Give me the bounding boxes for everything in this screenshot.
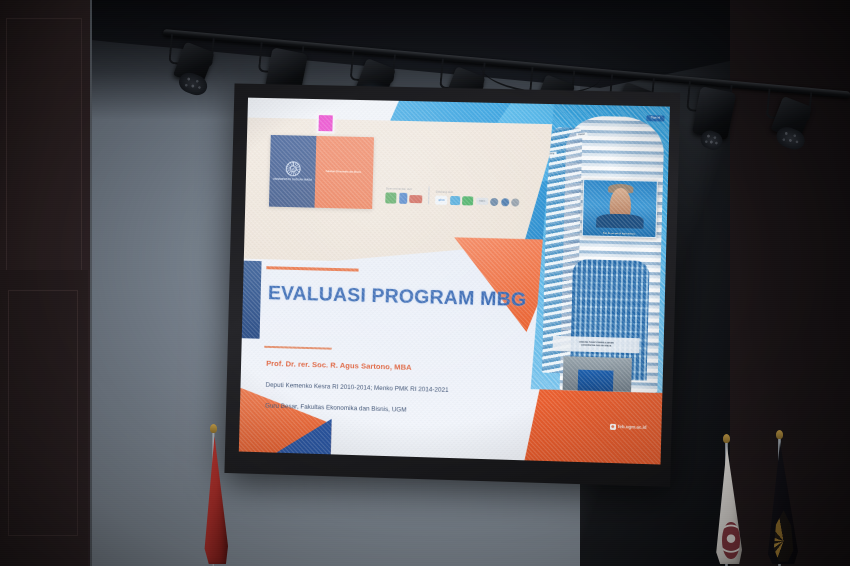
slide-website-text: feb.ugm.ac.id (618, 424, 647, 430)
partner-divider (428, 187, 429, 205)
flag-cloth-indonesia (202, 436, 228, 564)
flag-cloth-institution (766, 442, 798, 564)
building-entrance (562, 356, 631, 392)
ugm-seal-icon (285, 161, 300, 176)
partner-group-1-row (386, 193, 423, 205)
university-name: UNIVERSITAS GADJAH MADA (273, 178, 312, 182)
partner-logo-mdgs (410, 195, 423, 203)
globe-icon: ⊕ (610, 424, 616, 430)
partner-logo-indons: ndns (476, 198, 488, 205)
building-sign-line-2: UNIVERSITAS GADJAH MADA (581, 344, 611, 347)
feb-ugm-building-photo: GEDUNG PUSAT PEMBELAJARAN UNIVERSITAS GA… (531, 104, 670, 393)
ugm-logo: UNIVERSITAS GADJAH MADA (269, 135, 316, 207)
flag-finial-icon (776, 430, 783, 439)
university-emblem-icon (722, 522, 739, 560)
slide-website: ⊕ feb.ugm.ac.id (610, 424, 647, 431)
partner-logo-strip: Dipersembahkan oleh Didukung oleh gbsn (386, 161, 564, 208)
wall-panel-left-lower (0, 270, 88, 566)
portrait-shoulders (596, 214, 644, 229)
partner-group-2-heading: Didukung oleh (436, 191, 520, 196)
flag-cloth-university (714, 446, 742, 564)
partner-group-presented-by: Dipersembahkan oleh (386, 188, 423, 205)
slide-shape-blue-bar (242, 260, 262, 338)
conference-hall-scene: UNIVERSITAS GADJAH MADA Fakultas Ekonomi… (0, 0, 850, 566)
pink-accent-square (316, 113, 335, 133)
flag-indonesia (198, 430, 232, 566)
partner-logo-ugm (386, 193, 397, 204)
flag-finial-icon (210, 424, 217, 433)
partner-logo-odgs (462, 196, 473, 205)
ugm-feb-logo-lockup: UNIVERSITAS GADJAH MADA Fakultas Ekonomi… (269, 135, 373, 208)
flag-finial-icon (723, 434, 730, 443)
partner-logo-who (501, 198, 509, 206)
partner-group-1-heading: Dipersembahkan oleh (386, 188, 423, 192)
institution-emblem-icon (773, 510, 794, 561)
partner-group-supported-by: Didukung oleh gbsn ndns (435, 191, 519, 207)
projection-screen: UNIVERSITAS GADJAH MADA Fakultas Ekonomi… (239, 98, 670, 465)
tiga-id-badge: Tiga.id (646, 115, 664, 121)
presentation-slide: UNIVERSITAS GADJAH MADA Fakultas Ekonomi… (239, 98, 670, 465)
projection-screen-frame: UNIVERSITAS GADJAH MADA Fakultas Ekonomi… (224, 83, 680, 487)
entrance-door (577, 369, 613, 391)
building-signage: GEDUNG PUSAT PEMBELAJARAN UNIVERSITAS GA… (553, 336, 640, 354)
faculty-name: Fakultas Ekonomika dan Bisnis (326, 170, 362, 174)
feb-logo: Fakultas Ekonomika dan Bisnis (314, 136, 373, 208)
speaker-portrait-banner: Prof. Dr. rer. soc. R. Agus Sartono (582, 179, 657, 238)
partner-logo-pbb (511, 198, 519, 206)
flag-university (710, 440, 746, 566)
partner-logo-sdg (450, 196, 460, 205)
partner-logo-feb (399, 193, 407, 204)
partner-logo-gbsn: gbsn (435, 196, 447, 205)
portrait-caption: Prof. Dr. rer. soc. R. Agus Sartono (583, 232, 655, 236)
partner-logo-un (490, 198, 498, 206)
flag-institution (762, 436, 802, 566)
